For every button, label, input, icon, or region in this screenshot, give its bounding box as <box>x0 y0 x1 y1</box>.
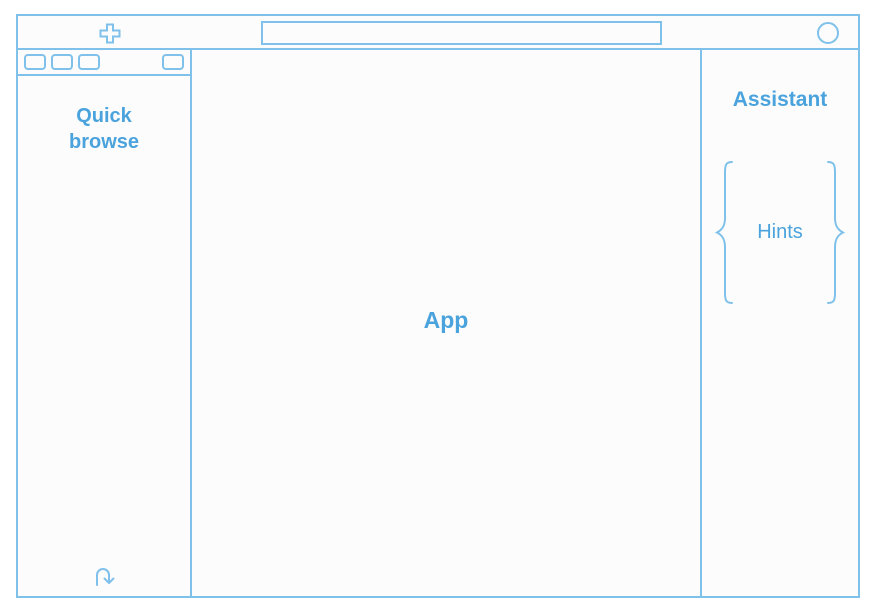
brace-right-icon <box>823 160 845 305</box>
assistant-title: Assistant <box>733 88 828 112</box>
square-button-icon-3[interactable] <box>78 54 100 70</box>
browser-window: Quick browse App Assistant <box>16 14 860 598</box>
sidebar-toolbar <box>18 50 190 76</box>
sidebar-footer <box>18 562 190 590</box>
square-button-icon-2[interactable] <box>51 54 73 70</box>
account-circle-icon[interactable] <box>817 22 839 44</box>
app-placeholder-label: App <box>424 307 469 334</box>
app-content-area[interactable]: App <box>192 50 702 596</box>
sidebar-content: Quick browse <box>18 76 190 596</box>
search-input[interactable] <box>261 21 662 45</box>
brace-left-icon <box>715 160 737 305</box>
title-bar <box>18 16 858 50</box>
window-body: Quick browse App Assistant <box>18 50 858 596</box>
plus-icon[interactable] <box>97 22 123 45</box>
square-button-icon-1[interactable] <box>24 54 46 70</box>
hints-label: Hints <box>757 221 803 244</box>
square-button-icon-4[interactable] <box>162 54 184 70</box>
assistant-panel: Assistant Hints <box>702 50 858 596</box>
hints-group: Hints <box>715 160 845 305</box>
quick-browse-sidebar: Quick browse <box>18 50 192 596</box>
u-turn-arrow-icon[interactable] <box>89 562 119 590</box>
sidebar-title: Quick browse <box>44 104 164 596</box>
